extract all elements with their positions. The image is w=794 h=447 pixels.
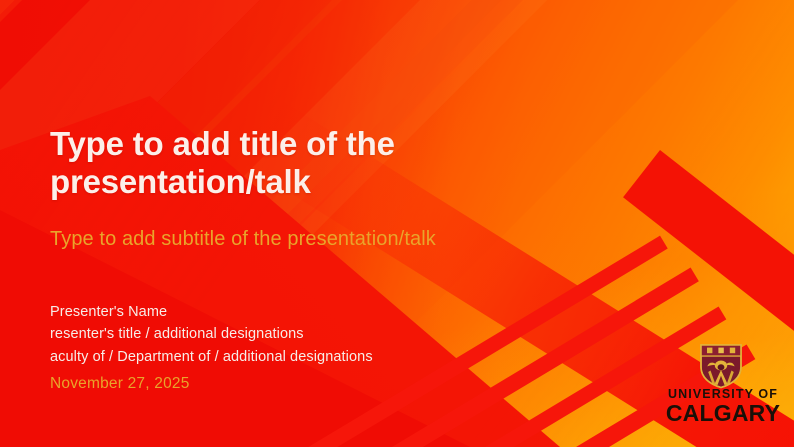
presenter-info-block[interactable]: Presenter's Name resenter's title / addi… — [50, 301, 373, 368]
slide-content: Type to add title of the presentation/ta… — [0, 0, 794, 447]
slide-date[interactable]: November 27, 2025 — [50, 375, 190, 393]
presenter-affiliation: aculty of / Department of / additional d… — [50, 346, 373, 368]
university-of-calgary-logo: UNIVERSITY OF CALGARY — [662, 343, 784, 431]
logo-wordmark: UNIVERSITY OF CALGARY — [662, 388, 784, 426]
logo-line-calgary: CALGARY — [662, 401, 784, 426]
presentation-title-slide: Type to add title of the presentation/ta… — [0, 0, 794, 447]
slide-subtitle-placeholder[interactable]: Type to add subtitle of the presentation… — [50, 228, 436, 251]
presenter-title: resenter's title / additional designatio… — [50, 323, 373, 345]
uofc-shield-icon — [693, 343, 749, 389]
slide-title-placeholder[interactable]: Type to add title of the presentation/ta… — [50, 125, 520, 202]
presenter-name: Presenter's Name — [50, 301, 373, 323]
